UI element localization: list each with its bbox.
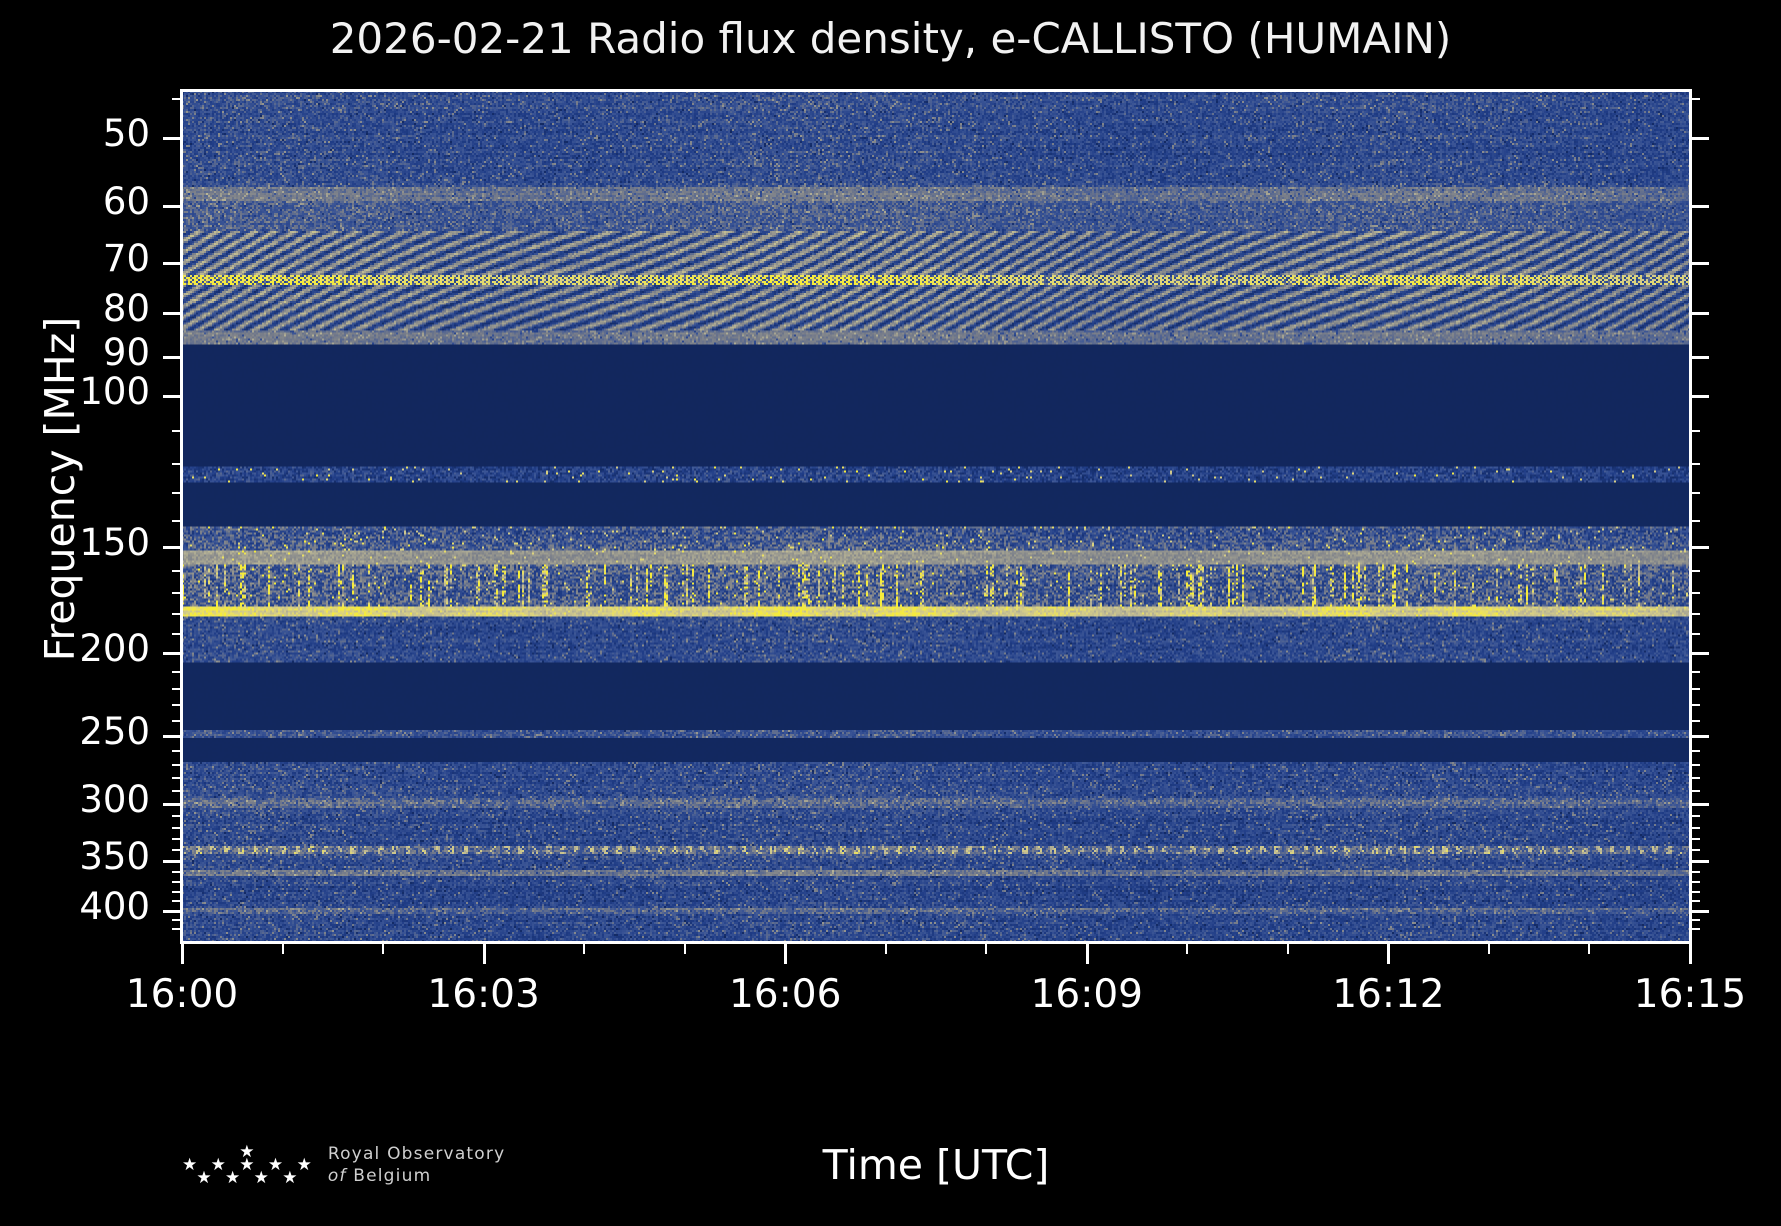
x-tick-label-16:09: 16:09 <box>1031 972 1143 1017</box>
x-minor-tick <box>282 942 284 954</box>
y-minor-tick-right <box>1690 720 1700 722</box>
y-minor-tick <box>172 570 182 572</box>
logo-organization-name: Royal Observatory <box>328 1144 506 1166</box>
y-minor-tick-right <box>1690 98 1700 100</box>
x-tick-16:15 <box>1689 942 1692 964</box>
y-minor-tick-right <box>1690 633 1700 635</box>
x-minor-tick <box>1588 942 1590 954</box>
y-tick-400 <box>163 910 182 913</box>
x-tick-16:09 <box>1086 942 1089 964</box>
y-minor-tick-right <box>1690 704 1700 706</box>
y-tick-right-250 <box>1690 735 1709 738</box>
y-minor-tick <box>172 827 182 829</box>
y-minor-tick-right <box>1690 613 1700 615</box>
y-minor-tick <box>172 838 182 840</box>
y-tick-right-90 <box>1690 356 1709 359</box>
y-minor-tick-right <box>1690 827 1700 829</box>
y-tick-80 <box>163 312 182 315</box>
y-minor-tick <box>172 592 182 594</box>
logo-text: Royal Observatory of Belgium <box>328 1144 506 1188</box>
x-tick-label-16:00: 16:00 <box>126 972 238 1017</box>
y-minor-tick <box>172 764 182 766</box>
y-minor-tick <box>172 815 182 817</box>
y-tick-label-50: 50 <box>0 112 150 155</box>
y-minor-tick-right <box>1690 592 1700 594</box>
x-minor-tick <box>1488 942 1490 954</box>
y-tick-right-300 <box>1690 803 1709 806</box>
y-minor-tick-right <box>1690 463 1700 465</box>
y-minor-tick-right <box>1690 928 1700 930</box>
y-minor-tick <box>172 430 182 432</box>
y-minor-tick-right <box>1690 900 1700 902</box>
x-minor-tick <box>985 942 987 954</box>
y-axis-label: Frequency [MHz] <box>36 209 84 769</box>
x-minor-tick <box>684 942 686 954</box>
logo-belgium-word: Belgium <box>353 1166 431 1186</box>
y-minor-tick <box>172 98 182 100</box>
y-minor-tick-right <box>1690 881 1700 883</box>
axis-spine-top <box>180 89 1692 92</box>
x-tick-label-16:06: 16:06 <box>729 972 841 1017</box>
y-tick-70 <box>163 262 182 265</box>
y-minor-tick <box>172 891 182 893</box>
y-tick-right-100 <box>1690 395 1709 398</box>
y-minor-tick-right <box>1690 838 1700 840</box>
y-minor-tick-right <box>1690 688 1700 690</box>
y-minor-tick-right <box>1690 570 1700 572</box>
x-tick-16:12 <box>1387 942 1390 964</box>
x-minor-tick <box>1186 942 1188 954</box>
logo-organization-country: of Belgium <box>328 1166 506 1188</box>
y-tick-right-80 <box>1690 312 1709 315</box>
y-minor-tick-right <box>1690 750 1700 752</box>
y-minor-tick <box>172 750 182 752</box>
y-tick-350 <box>163 860 182 863</box>
logo-of-word: of <box>328 1166 347 1186</box>
y-tick-right-60 <box>1690 205 1709 208</box>
y-minor-tick-right <box>1690 671 1700 673</box>
y-minor-tick <box>172 671 182 673</box>
x-minor-tick <box>583 942 585 954</box>
x-minor-tick <box>1287 942 1289 954</box>
y-minor-tick <box>172 919 182 921</box>
y-minor-tick-right <box>1690 492 1700 494</box>
y-tick-right-200 <box>1690 652 1709 655</box>
x-tick-16:06 <box>784 942 787 964</box>
page-title: 2026-02-21 Radio flux density, e-CALLIST… <box>0 14 1781 63</box>
x-minor-tick <box>382 942 384 954</box>
x-tick-16:03 <box>483 942 486 964</box>
y-tick-50 <box>163 137 182 140</box>
y-minor-tick <box>172 777 182 779</box>
x-tick-label-16:12: 16:12 <box>1332 972 1444 1017</box>
logo-stars-icon: ★ ★ ★ ★ ★ ★ ★ ★ ★ ★ <box>182 1146 316 1186</box>
y-minor-tick <box>172 849 182 851</box>
y-minor-tick-right <box>1690 871 1700 873</box>
y-tick-100 <box>163 395 182 398</box>
x-tick-label-16:15: 16:15 <box>1634 972 1746 1017</box>
y-tick-right-150 <box>1690 546 1709 549</box>
y-minor-tick-right <box>1690 777 1700 779</box>
y-minor-tick <box>172 790 182 792</box>
y-tick-250 <box>163 735 182 738</box>
y-tick-60 <box>163 205 182 208</box>
axis-spine-bottom <box>180 941 1692 944</box>
x-tick-16:00 <box>181 942 184 964</box>
y-tick-label-350: 350 <box>0 835 150 878</box>
y-tick-200 <box>163 652 182 655</box>
y-minor-tick-right <box>1690 815 1700 817</box>
y-minor-tick <box>172 871 182 873</box>
y-minor-tick <box>172 613 182 615</box>
y-tick-300 <box>163 803 182 806</box>
y-minor-tick-right <box>1690 919 1700 921</box>
x-minor-tick <box>885 942 887 954</box>
spectrogram-plot-area <box>182 91 1690 942</box>
y-minor-tick-right <box>1690 764 1700 766</box>
y-minor-tick <box>172 520 182 522</box>
y-minor-tick <box>172 720 182 722</box>
y-minor-tick-right <box>1690 891 1700 893</box>
y-tick-right-350 <box>1690 860 1709 863</box>
x-tick-label-16:03: 16:03 <box>427 972 539 1017</box>
y-tick-150 <box>163 546 182 549</box>
logo-star-row-bottom: ★ ★ ★ ★ <box>196 1172 301 1185</box>
y-tick-right-50 <box>1690 137 1709 140</box>
y-minor-tick <box>172 463 182 465</box>
y-minor-tick-right <box>1690 430 1700 432</box>
spectrogram-heatmap <box>182 91 1690 942</box>
y-minor-tick <box>172 900 182 902</box>
y-minor-tick-right <box>1690 849 1700 851</box>
y-minor-tick-right <box>1690 790 1700 792</box>
y-minor-tick <box>172 492 182 494</box>
y-tick-label-300: 300 <box>0 778 150 821</box>
y-minor-tick <box>172 704 182 706</box>
y-tick-right-70 <box>1690 262 1709 265</box>
y-minor-tick-right <box>1690 520 1700 522</box>
royal-observatory-logo: ★ ★ ★ ★ ★ ★ ★ ★ ★ ★ Royal Observatory of… <box>182 1144 505 1188</box>
y-minor-tick <box>172 633 182 635</box>
y-minor-tick <box>172 688 182 690</box>
y-minor-tick <box>172 881 182 883</box>
y-minor-tick <box>172 928 182 930</box>
y-tick-90 <box>163 356 182 359</box>
y-tick-right-400 <box>1690 910 1709 913</box>
y-tick-label-400: 400 <box>0 885 150 928</box>
